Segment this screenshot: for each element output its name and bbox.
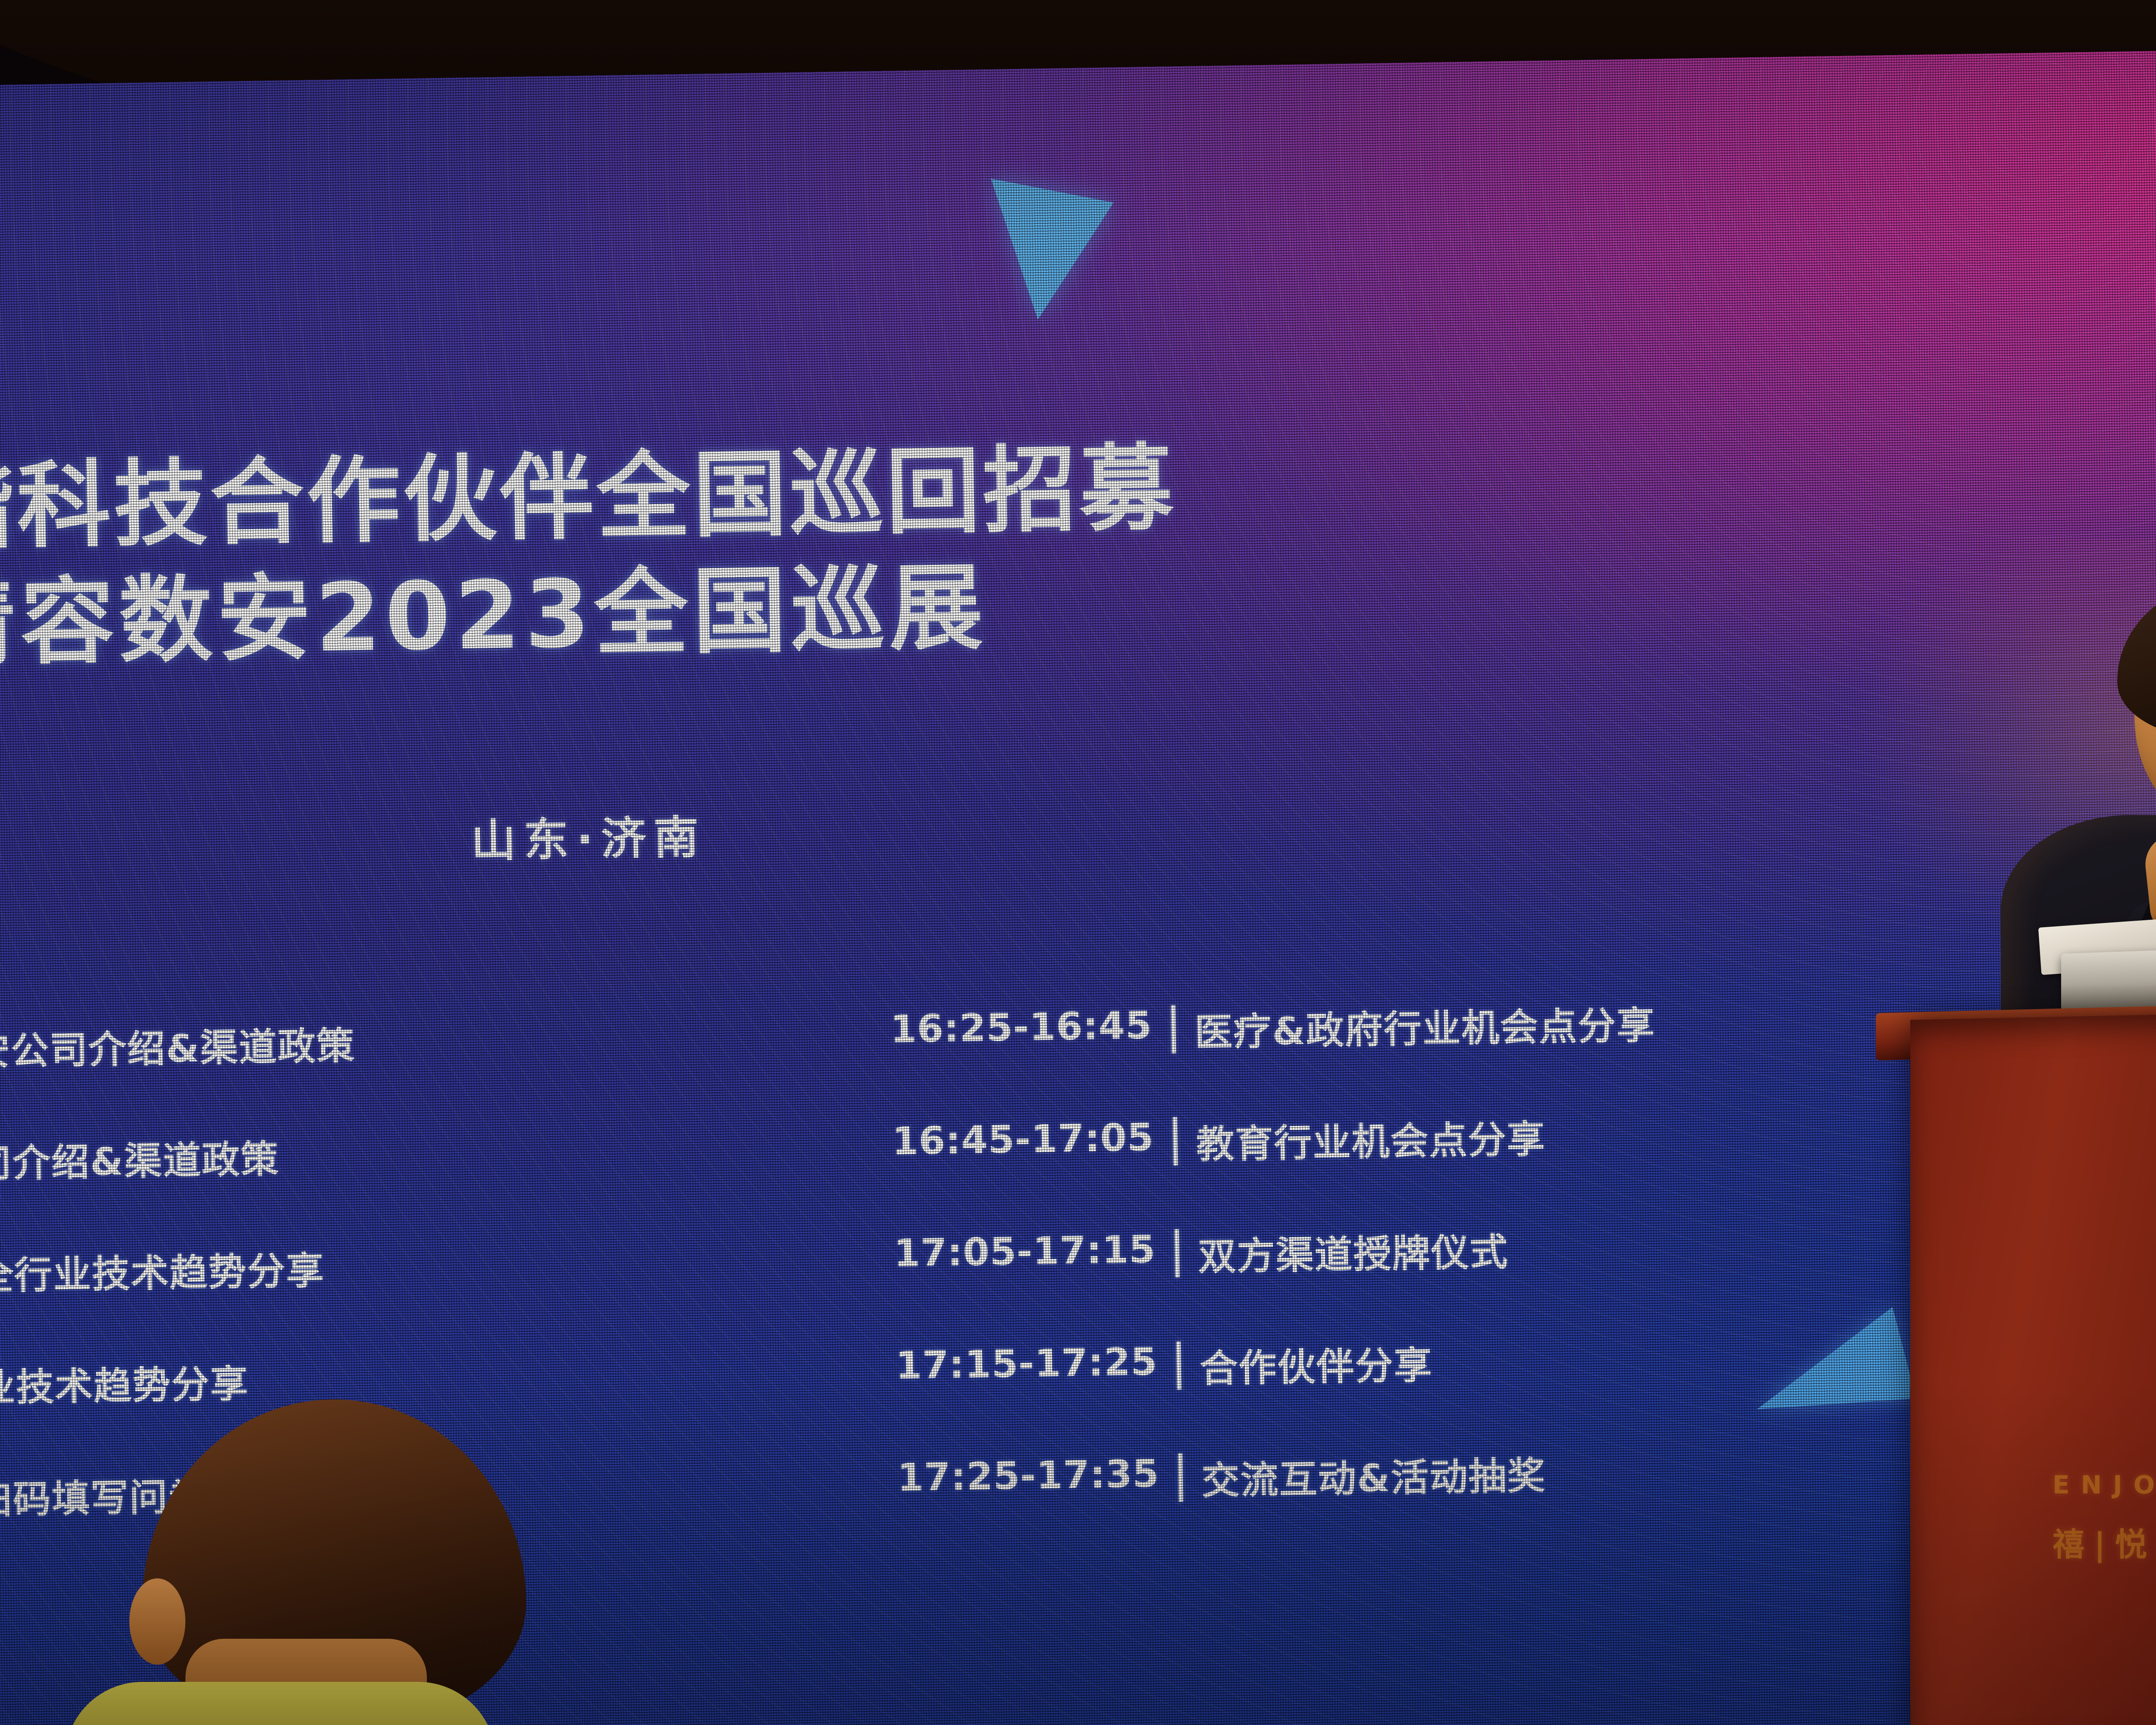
speaker-hair (2117, 582, 2156, 737)
audience-member-1-ear (129, 1578, 185, 1665)
slide-subheadline: 山东·济南 (470, 800, 707, 869)
agenda-topic: 双方渠道授牌仪式 (1197, 1221, 1509, 1281)
agenda-separator (1172, 1117, 1178, 1165)
agenda-separator (1178, 1453, 1183, 1502)
conference-photo-stage: 楷科技合作伙伴全国巡回招募 清容数安2023全国巡展 山东·济南 数安公司介绍&… (0, 0, 2156, 1725)
agenda-time: 16:25-16:45 (890, 1003, 1153, 1051)
podium-logo-enjoy: ENJOY (2053, 1470, 2156, 1499)
agenda-topic: 教育行业机会点分享 (1196, 1109, 1546, 1169)
headline-line-2: 清容数安2023全国巡展 (0, 544, 2100, 672)
agenda-separator (1171, 1005, 1176, 1053)
agenda-time: 16:45-17:05 (892, 1115, 1154, 1164)
agenda-time: 17:15-17:25 (895, 1339, 1158, 1388)
triangle-decoration-top (966, 179, 1113, 329)
headline-line-1: 楷科技合作伙伴全国巡回招募 (0, 434, 1177, 563)
audience-member-1-shirt (65, 1682, 496, 1725)
podium-logo-latin: ENJOY HOTEL (2053, 1466, 2156, 1503)
agenda-time: 17:05-17:15 (893, 1227, 1156, 1276)
podium-laptop (2061, 944, 2156, 1010)
agenda-left-topic: 数安公司介绍&渠道政策 (0, 1007, 891, 1077)
agenda-topic: 合作伙伴分享 (1199, 1335, 1433, 1393)
slide-headline: 楷科技合作伙伴全国巡回招募 清容数安2023全国巡展 (0, 427, 2100, 672)
podium-logo-chinese: 禧|悦|東|方 (2053, 1519, 2156, 1565)
agenda-topic: 交流互动&活动抽奖 (1201, 1445, 1547, 1505)
podium-hotel-logo: ENJOY HOTEL 禧|悦|東|方 (2053, 1466, 2156, 1565)
agenda-time: 17:25-17:35 (897, 1451, 1159, 1500)
podium-lectern (1910, 1007, 2156, 1725)
agenda-topic: 医疗&政府行业机会点分享 (1194, 995, 1656, 1057)
agenda-separator (1176, 1341, 1181, 1389)
agenda-separator (1175, 1229, 1180, 1277)
